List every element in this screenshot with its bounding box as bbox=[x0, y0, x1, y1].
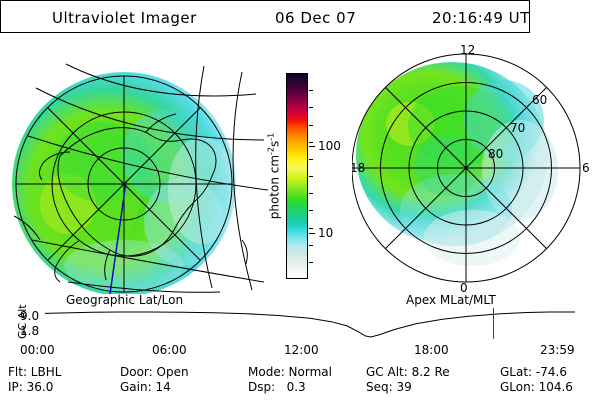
geographic-plot-svg bbox=[6, 44, 270, 294]
mlt-label-12: 12 bbox=[460, 43, 475, 57]
gc-alt-tick-high: 9.0 bbox=[20, 309, 39, 323]
apex-polar-plot: 12 18 6 0 60 70 80 bbox=[352, 42, 596, 294]
status-field: GLat: -74.6 bbox=[500, 365, 567, 379]
status-field: Flt: LBHL bbox=[8, 365, 61, 379]
geographic-polar-plot bbox=[6, 44, 270, 294]
time-axis-label: 00:00 bbox=[20, 343, 55, 357]
colorbar-minor-tick bbox=[309, 193, 313, 194]
colorbar-tick bbox=[309, 233, 315, 234]
status-field: Mode: Normal bbox=[248, 365, 332, 379]
colorbar-tick-label: 10 bbox=[318, 226, 333, 240]
status-field: Gain: 14 bbox=[120, 380, 171, 394]
colorbar-group: photon cm-2s-1 bbox=[286, 73, 308, 279]
gc-alt-tick-low: 1.8 bbox=[20, 324, 39, 338]
uvi-display: Ultraviolet Imager 06 Dec 07 20:16:49 UT bbox=[0, 0, 600, 400]
orbit-altitude-curve-svg bbox=[45, 307, 575, 340]
colorbar-minor-tick bbox=[309, 159, 313, 160]
status-field: GC Alt: 8.2 Re bbox=[366, 365, 450, 379]
instrument-title: Ultraviolet Imager bbox=[52, 9, 197, 27]
header-bar: Ultraviolet Imager 06 Dec 07 20:16:49 UT bbox=[0, 9, 600, 31]
colorbar-gradient bbox=[286, 73, 308, 279]
mlt-label-18: 18 bbox=[352, 161, 365, 175]
colorbar-minor-tick bbox=[309, 107, 313, 108]
mlt-label-6: 6 bbox=[582, 161, 590, 175]
orbit-altitude-curve bbox=[45, 312, 575, 337]
status-row: Flt: LBHLDoor: OpenMode: NormalGC Alt: 8… bbox=[0, 365, 600, 380]
colorbar-tick-label: 100 bbox=[318, 139, 341, 153]
mlat-label-70: 70 bbox=[510, 121, 525, 135]
status-field: Dsp: 0.3 bbox=[248, 380, 306, 394]
status-bar: Flt: LBHLDoor: OpenMode: NormalGC Alt: 8… bbox=[0, 365, 600, 395]
current-time-marker bbox=[493, 308, 494, 339]
colorbar-minor-tick bbox=[309, 210, 313, 211]
status-field: IP: 36.0 bbox=[8, 380, 53, 394]
colorbar-minor-tick bbox=[309, 176, 313, 177]
status-field: Seq: 39 bbox=[366, 380, 412, 394]
mlat-label-60: 60 bbox=[532, 93, 547, 107]
colorbar-tick bbox=[309, 146, 315, 147]
colorbar-minor-tick bbox=[309, 245, 313, 246]
status-field: Door: Open bbox=[120, 365, 189, 379]
time-axis-label: 18:00 bbox=[414, 343, 449, 357]
time-axis-label: 23:59 bbox=[540, 343, 575, 357]
observation-date: 06 Dec 07 bbox=[275, 9, 356, 27]
right-panel-caption: Apex MLat/MLT bbox=[406, 293, 496, 307]
colorbar-axis-label: photon cm-2s-1 bbox=[267, 133, 282, 220]
time-axis-label: 12:00 bbox=[284, 343, 319, 357]
apex-graticule bbox=[352, 54, 580, 282]
status-row: IP: 36.0Gain: 14Dsp: 0.3Seq: 39GLon: 104… bbox=[0, 380, 600, 395]
colorbar-minor-tick bbox=[309, 142, 313, 143]
aurora-emission-right bbox=[356, 62, 558, 266]
left-panel-caption: Geographic Lat/Lon bbox=[66, 293, 183, 307]
time-axis-label: 06:00 bbox=[152, 343, 187, 357]
colorbar-minor-tick bbox=[309, 90, 313, 91]
colorbar-minor-tick bbox=[309, 262, 313, 263]
mlat-label-80: 80 bbox=[488, 147, 503, 161]
observation-time: 20:16:49 UT bbox=[432, 9, 530, 27]
status-field: GLon: 104.6 bbox=[500, 380, 573, 394]
colorbar-minor-tick bbox=[309, 228, 313, 229]
apex-plot-svg: 12 18 6 0 60 70 80 bbox=[352, 42, 596, 294]
colorbar-minor-tick bbox=[309, 125, 313, 126]
